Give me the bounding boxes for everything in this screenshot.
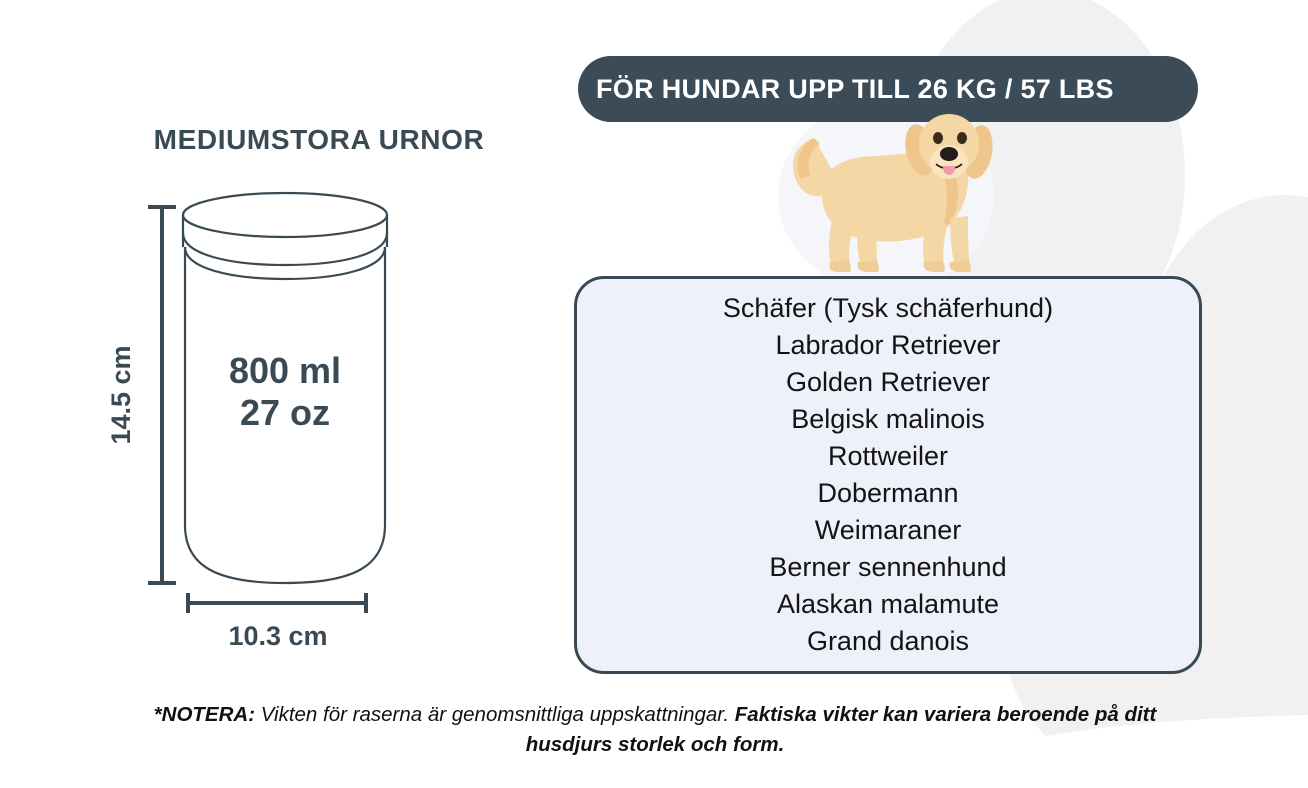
infographic-page: MEDIUMSTORA URNOR 800 ml [0,0,1308,788]
urn-figure: 800 ml 27 oz 14.5 cm 10.3 cm [100,185,520,665]
footnote-prefix: *NOTERA: [154,703,255,726]
urn-width-label: 10.3 cm [228,621,327,651]
height-dimension-line [148,207,176,583]
footnote-normal: Vikten för raserna är genomsnittliga upp… [255,703,735,726]
list-item: Rottweiler [828,438,948,475]
list-item: Schäfer (Tysk schäferhund) [723,290,1053,327]
list-item: Alaskan malamute [777,586,999,623]
dog-eye-right [957,132,967,144]
page-title: MEDIUMSTORA URNOR [0,124,638,156]
urn-height-label: 14.5 cm [106,345,136,444]
footnote: *NOTERA: Vikten för raserna är genomsnit… [110,700,1200,760]
breed-list-card: Schäfer (Tysk schäferhund) Labrador Retr… [574,276,1202,674]
dog-paws [829,260,971,272]
golden-retriever-illustration [770,100,1000,278]
dog-head [901,114,997,181]
list-item: Weimaraner [815,512,962,549]
list-item: Belgisk malinois [791,401,985,438]
list-item: Berner sennenhund [769,549,1006,586]
width-dimension-line [188,593,366,613]
urn-volume-oz: 27 oz [240,392,330,433]
list-item: Labrador Retriever [775,327,1000,364]
dog-eye-left [933,132,943,144]
dog-nose-icon [940,147,958,161]
list-item: Dobermann [817,475,958,512]
urn-volume-ml: 800 ml [229,350,341,391]
list-item: Golden Retriever [786,364,990,401]
list-item: Grand danois [807,623,969,660]
